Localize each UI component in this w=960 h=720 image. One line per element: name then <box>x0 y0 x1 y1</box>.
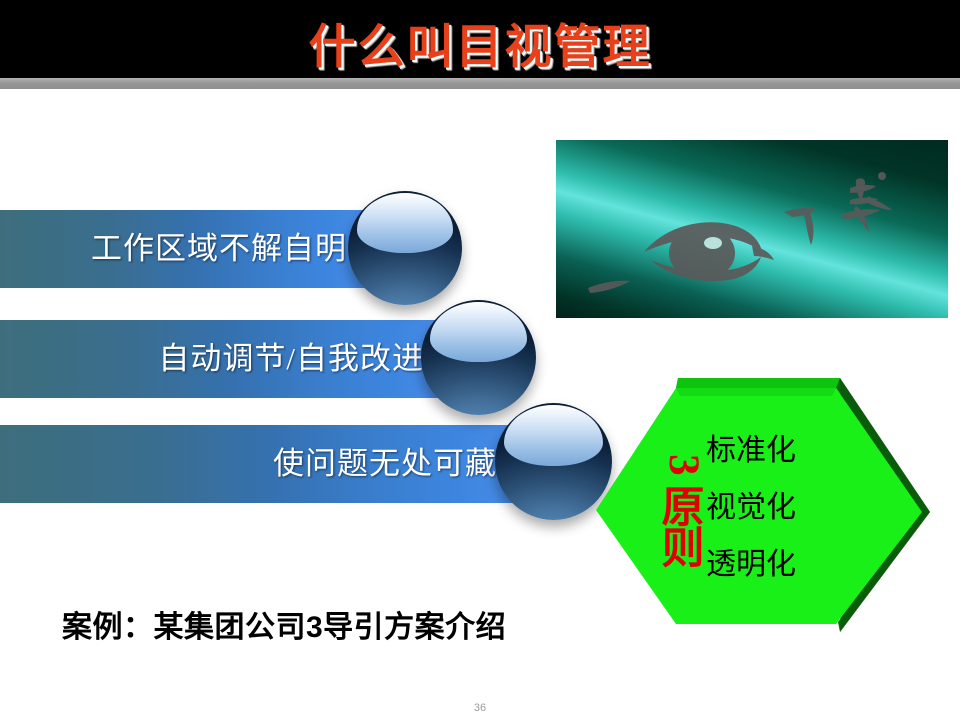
sphere-bullet-1 <box>348 191 462 305</box>
bullet-bar-3-label: 使问题无处可藏 <box>273 425 497 503</box>
hexagon-item-list: 标准化 视觉化 透明化 <box>706 436 836 607</box>
hexagon-principle-word: 原则 <box>660 488 706 571</box>
slide-canvas: 什么叫目视管理 工作区域不解自明 自动调节/自我改进 使问题无处可藏 <box>0 0 960 720</box>
hexagon-principle-label: 3 原则 <box>660 444 706 571</box>
bullet-bar-3: 使问题无处可藏 <box>0 425 523 503</box>
bullet-bar-2: 自动调节/自我改进 <box>0 320 450 398</box>
case-caption: 案例：某集团公司3导引方案介绍 <box>62 602 506 646</box>
bullet-bar-1-label: 工作区域不解自明 <box>91 210 347 288</box>
page-number: 36 <box>0 702 960 714</box>
hexagon-item-1: 标准化 <box>706 436 836 466</box>
sphere-bullet-2 <box>421 300 536 415</box>
hexagon-principle-number: 3 <box>662 442 704 488</box>
hexagon-item-2: 视觉化 <box>706 493 836 523</box>
eye-illustration-image <box>556 140 948 318</box>
title-underline-bar <box>0 78 960 89</box>
bullet-bar-2-label: 自动调节/自我改进 <box>158 320 424 398</box>
hexagon-item-3: 透明化 <box>706 550 836 580</box>
bullet-bar-1: 工作区域不解自明 <box>0 210 375 288</box>
page-title: 什么叫目视管理 <box>0 8 960 77</box>
